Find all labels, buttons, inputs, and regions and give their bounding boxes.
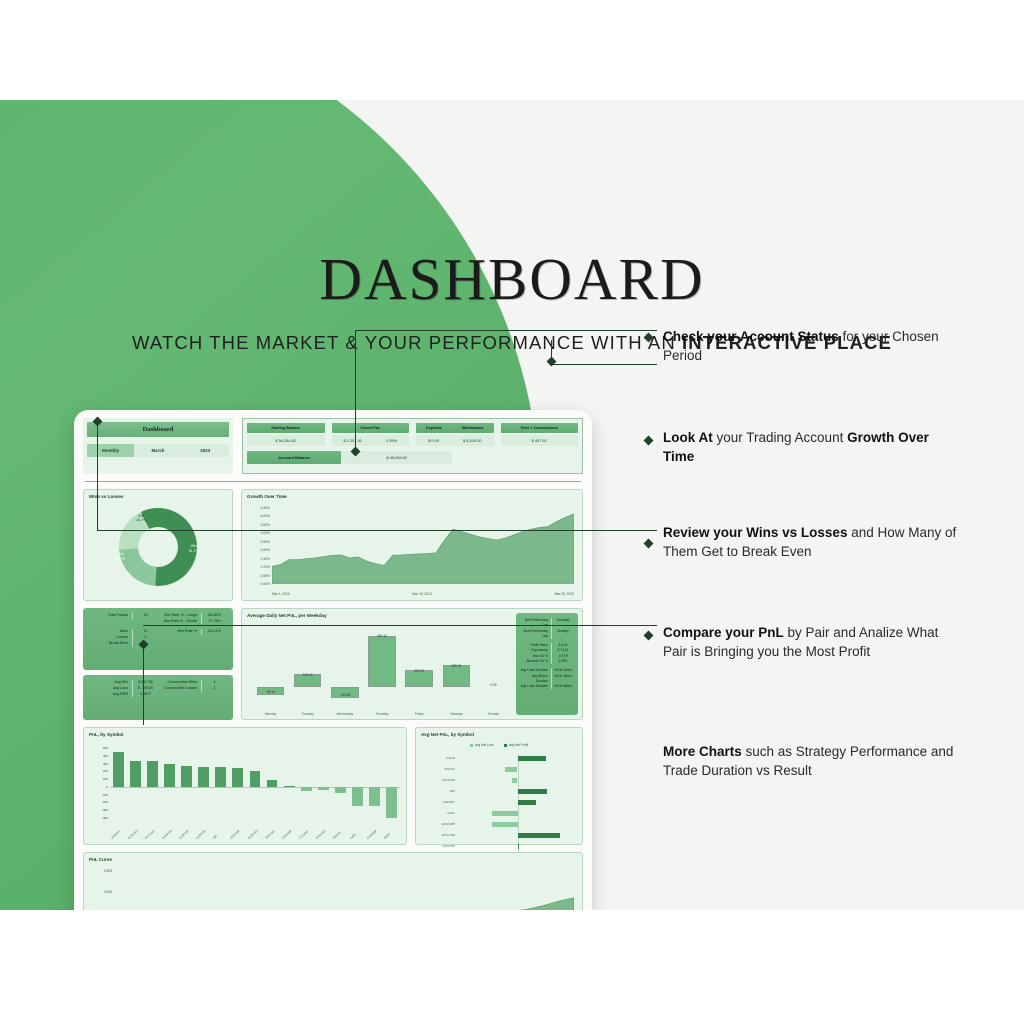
- legend-swatch-icon: [504, 744, 507, 747]
- pnl-by-symbol-panel: PnL, by Symbol 5004003002001000-100-200-…: [83, 727, 407, 845]
- legend-item-profit: Avg Net Profit: [504, 743, 529, 747]
- annotation-2: Look At your Trading Account Growth Over…: [663, 429, 963, 467]
- annotation-3: Review your Wins vs Losses and How Many …: [663, 524, 963, 562]
- bar: [113, 752, 124, 787]
- month-select[interactable]: March: [134, 444, 181, 457]
- annotation-bullet-2: [644, 436, 654, 446]
- wins-vs-losses-panel: Wins vs Losses Win 61.1% Loss 22.2%: [83, 489, 233, 601]
- pnl-curve-title: PnL Curve: [84, 853, 582, 862]
- bar-column: [212, 748, 229, 818]
- axis-gridline: [518, 765, 519, 776]
- account-status-card: Starting Balance $ 54,264.62 Closed PnL …: [242, 418, 583, 474]
- kpi-value: $ 54,264.62: [275, 438, 296, 443]
- bar-value-label: 167.43: [289, 673, 326, 677]
- bar-track: [459, 754, 576, 765]
- bar: [301, 787, 312, 791]
- pnl-curve-series: [114, 871, 574, 910]
- kpi-row: Starting Balance $ 54,264.62 Closed PnL …: [247, 423, 578, 446]
- list-item: FRAXX: [421, 765, 576, 776]
- kpi-label: Closed PnL: [360, 426, 380, 430]
- charts-row-3: PnL, by Symbol 5004003002001000-100-200-…: [83, 727, 583, 845]
- table-row: Avg Winner Duration 0d 0h 25min: [520, 674, 574, 685]
- bar-column: 219.75: [401, 631, 438, 703]
- symbol-label: EURGBP: [421, 822, 455, 826]
- symbol-label: BTCUSD: [421, 833, 455, 837]
- symbol-y-tick: 0: [106, 785, 108, 789]
- bar: [232, 768, 243, 787]
- charts-row-1: Wins vs Losses Win 61.1% Loss 22.2%: [83, 489, 583, 601]
- bar: [386, 787, 397, 818]
- annotation-bullet-3: [644, 539, 654, 549]
- symbol-tick: NFI: [212, 826, 227, 840]
- symbol-tick: AUDNZD: [195, 826, 210, 840]
- bar: [443, 665, 470, 688]
- growth-y-tick: 2.50%: [261, 540, 270, 544]
- dashboard-mockup-window[interactable]: Dashboard Monthly March 2023 Starting Ba…: [74, 410, 592, 910]
- kpi-closed-pnl: Closed PnL $ 1,257.41 2.39%: [332, 423, 410, 446]
- account-balance-label: Account Balance: [247, 451, 341, 464]
- bar: [181, 766, 192, 787]
- legend-item-loss: Avg Net Loss: [470, 743, 494, 747]
- performance-summary-box: Best Performing Day Thursday Worst Perfo…: [516, 613, 578, 715]
- bar-column: [281, 748, 298, 818]
- bar-value-label: 219.75: [401, 669, 438, 673]
- symbol-y-tick: 100: [103, 777, 108, 781]
- subtitle-plain: WATCH THE MARKET & YOUR PERFORMANCE WITH…: [132, 332, 682, 353]
- bar-track: [459, 809, 576, 820]
- pnl-symbol-x-axis: USDJPYEURUSDBTCUSDEURAUDEURCHFAUDNZDNFIU…: [110, 837, 400, 841]
- donut-label-win: Win 61.1%: [189, 544, 199, 554]
- bar: [318, 787, 329, 791]
- symbol-tick: USDCHF: [229, 826, 244, 840]
- bar-track: [459, 831, 576, 842]
- connector-line-3: [97, 422, 98, 530]
- weekday-tick: Friday: [401, 712, 438, 716]
- growth-y-tick: 4.00%: [261, 514, 270, 518]
- annotation-5: More Charts such as Strategy Performance…: [663, 743, 963, 781]
- symbol-tick: BTCUSD: [144, 826, 159, 840]
- bar-column: [383, 748, 400, 818]
- symbol-label: USNO: [421, 756, 455, 760]
- kpi-label-2: Withdrawals: [462, 426, 484, 430]
- bar-column: -99.12: [252, 631, 289, 703]
- pnl-symbol-bars: [110, 748, 400, 818]
- symbol-y-tick: -300: [102, 808, 108, 812]
- bar-profit: [518, 844, 519, 849]
- growth-y-tick: 3.50%: [261, 523, 270, 527]
- symbol-y-tick: 300: [103, 762, 108, 766]
- bar-loss: [492, 811, 518, 816]
- bar-column: -134.00: [326, 631, 363, 703]
- bar-value-label: 289.00: [438, 664, 475, 668]
- symbol-y-tick: 400: [103, 754, 108, 758]
- table-row: Avg Loser Duration 0d 0h 56min: [520, 684, 574, 689]
- kpi-deposits-withdrawals: Deposits Withdrawals $ 0.00 $ 6,200.00: [416, 423, 494, 446]
- symbol-y-tick: -400: [102, 816, 108, 820]
- weekday-tick: Thursday: [363, 712, 400, 716]
- pnl-symbol-y-axis: 5004003002001000-100-200-300-400: [86, 748, 108, 818]
- symbol-tick: ETHUSD: [315, 826, 330, 840]
- growth-y-tick: 1.00%: [261, 565, 270, 569]
- donut-label-breakeven: B/E 16.7%: [136, 514, 146, 524]
- kpi-value: $ 0.00: [428, 438, 439, 443]
- table-row: Break Even 3: [89, 641, 227, 647]
- connector-line-4b: [143, 625, 657, 626]
- symbol-label: AUDJPY: [421, 800, 455, 804]
- pnl-curve-plot-area: [114, 871, 574, 910]
- bar-track: [459, 798, 576, 809]
- weekday-tick: Saturday: [438, 712, 475, 716]
- kpi-fees-commissions: Fees + Commissions $ 457.51: [501, 423, 579, 446]
- bar-track: [459, 820, 576, 831]
- bar: [147, 761, 158, 787]
- symbol-tick: XAUUSD: [264, 826, 279, 840]
- bar-value-label: -134.00: [326, 693, 363, 697]
- bar-profit: [518, 833, 560, 838]
- page-title: DASHBOARD: [0, 245, 1024, 314]
- weekday-bars: -99.12167.43-134.00661.41219.75289.000.0…: [252, 631, 512, 703]
- table-row: Absolute DD % 0.29%: [520, 659, 574, 664]
- avg-net-pnl-title: Avg Net PnL, by Symbol: [416, 728, 582, 737]
- bar-column: [315, 748, 332, 818]
- bar: [284, 786, 295, 787]
- bar: [368, 636, 395, 688]
- bar-column: [144, 748, 161, 818]
- legend-swatch-icon: [470, 744, 473, 747]
- connector-line-2: [355, 330, 657, 331]
- bar-column: 289.00: [438, 631, 475, 703]
- bar-column: [246, 748, 263, 818]
- annotation-1: Check your Account Status for your Chose…: [663, 328, 963, 366]
- list-item: AAPL: [421, 809, 576, 820]
- growth-y-tick: 3.00%: [261, 531, 270, 535]
- bar-column: [110, 748, 127, 818]
- top-row: Dashboard Monthly March 2023 Starting Ba…: [83, 418, 583, 474]
- kpi-value: $ 1,257.41: [344, 438, 362, 443]
- symbol-tick: USDJPY: [110, 826, 125, 840]
- bar-loss: [505, 767, 517, 772]
- weekday-x-axis: MondayTuesdayWednesdayThursdayFridaySatu…: [252, 712, 512, 716]
- bar-track: [459, 765, 576, 776]
- avg-net-pnl-rows: USNOFRAXXETHUSDNFIAUDJPYAAPLEURGBPBTCUSD…: [421, 754, 576, 840]
- trade-counts-box: Total Trades 18 Win Rate % - Longs 66.66…: [83, 608, 233, 670]
- list-item: ETHUSD: [421, 776, 576, 787]
- symbol-tick: EURCHF: [178, 826, 193, 840]
- pnl-curve-y-axis: 2,5002,0001,5001,000: [86, 871, 112, 910]
- year-select[interactable]: 2023: [182, 444, 229, 457]
- growth-plot-area: 0.00%0.50%1.00%1.50%2.00%2.50%3.00%3.50%…: [272, 508, 574, 584]
- avg-net-pnl-panel: Avg Net PnL, by Symbol Avg Net Loss Avg …: [415, 727, 583, 845]
- bar-column: [264, 748, 281, 818]
- symbol-tick: CADCHF: [281, 826, 296, 840]
- growth-y-axis: 0.00%0.50%1.00%1.50%2.00%2.50%3.00%3.50%…: [244, 508, 270, 584]
- list-item: EURGBP: [421, 820, 576, 831]
- bar-column: [229, 748, 246, 818]
- bar: [164, 764, 175, 787]
- bar: [215, 767, 226, 786]
- bar: [352, 787, 363, 806]
- growth-x-tick: Mar 29, 2023: [555, 592, 574, 596]
- axis-gridline: [518, 776, 519, 787]
- symbol-tick: AAPL: [349, 826, 364, 840]
- curve-y-tick: 2,500: [104, 869, 112, 873]
- kpi-starting-balance: Starting Balance $ 54,264.62: [247, 423, 325, 446]
- axis-gridline: [518, 809, 519, 820]
- kpi-value-pct: 2.39%: [386, 438, 397, 443]
- bar-value-label: 0.00: [475, 683, 512, 687]
- symbol-y-tick: -100: [102, 793, 108, 797]
- bar-column: [195, 748, 212, 818]
- bar-loss: [492, 822, 518, 827]
- bar: [130, 761, 141, 787]
- growth-chart-title: Growth Over Time: [242, 490, 582, 499]
- avg-stats-box: Avg Win $ 217.55 Consecutive Wins 4 Avg …: [83, 675, 233, 720]
- symbol-tick: EURUSD: [127, 826, 142, 840]
- table-row: Best Performing Day Thursday: [520, 618, 574, 629]
- bar-column: [178, 748, 195, 818]
- bar-column: [161, 748, 178, 818]
- connector-line-2b: [355, 330, 356, 452]
- growth-x-tick: Mar 1, 2023: [272, 592, 290, 596]
- symbol-tick: FRAXX: [332, 826, 347, 840]
- bar: [250, 771, 261, 787]
- slide-root: DASHBOARD WATCH THE MARKET & YOUR PERFOR…: [0, 0, 1024, 1024]
- symbol-label: CADCHF: [421, 844, 455, 848]
- bar-column: 0.00: [475, 631, 512, 703]
- bar-track: [459, 787, 576, 798]
- annotation-4: Compare your PnL by Pair and Analize Wha…: [663, 624, 963, 662]
- bar-column: [349, 748, 366, 818]
- donut-label-loss: Loss 22.2%: [115, 552, 125, 562]
- connector-line-4: [143, 645, 144, 725]
- bar-value-label: 661.41: [363, 634, 400, 638]
- growth-area-series: [272, 508, 574, 584]
- table-row: Avg RRR 1.46 R: [89, 692, 227, 698]
- symbol-label: FRAXX: [421, 767, 455, 771]
- growth-y-tick: 0.50%: [261, 574, 270, 578]
- list-item: USNO: [421, 754, 576, 765]
- weekday-tick: Tuesday: [289, 712, 326, 716]
- bar: [335, 787, 346, 794]
- frequency-select[interactable]: Monthly: [87, 444, 134, 457]
- bar-column: [332, 748, 349, 818]
- bar-value-label: -99.12: [252, 690, 289, 694]
- table-row: Worst Performing Day Monday: [520, 629, 574, 640]
- connector-line-3b: [97, 530, 657, 531]
- growth-y-tick: 0.00%: [261, 582, 270, 586]
- list-item: BTCUSD: [421, 831, 576, 842]
- header-divider: [85, 481, 581, 482]
- list-item: NFI: [421, 787, 576, 798]
- bar-column: [127, 748, 144, 818]
- weekday-tick: Sunday: [475, 712, 512, 716]
- symbol-tick: MSFT: [383, 826, 398, 840]
- wins-vs-losses-donut: Win 61.1% Loss 22.2% B/E 16.7%: [119, 508, 197, 586]
- symbol-tick: EURGBP: [366, 826, 381, 840]
- kpi-value: $ 457.51: [532, 438, 547, 443]
- growth-x-axis: Mar 1, 2023 Mar 15, 2023 Mar 29, 2023: [272, 592, 574, 596]
- growth-y-tick: 4.50%: [261, 506, 270, 510]
- kpi-label: Starting Balance: [271, 426, 300, 430]
- weekday-tick: Wednesday: [326, 712, 363, 716]
- donut-hole: [138, 527, 178, 567]
- bar-loss: [512, 778, 518, 783]
- kpi-label: Fees + Commissions: [521, 426, 558, 430]
- bar: [198, 767, 209, 787]
- list-item: AUDJPY: [421, 798, 576, 809]
- bar: [267, 780, 278, 787]
- bar-track: [459, 776, 576, 787]
- bar-column: [298, 748, 315, 818]
- bar-column: 661.41: [363, 631, 400, 703]
- bar-column: [366, 748, 383, 818]
- bar-profit: [518, 789, 547, 794]
- symbol-label: ETHUSD: [421, 778, 455, 782]
- symbol-label: NFI: [421, 789, 455, 793]
- kpi-value-2: $ 6,200.00: [463, 438, 481, 443]
- symbol-y-tick: 200: [103, 769, 108, 773]
- symbol-tick: AUDCAD: [247, 826, 262, 840]
- symbol-tick: EURAUD: [161, 826, 176, 840]
- annotation-bullet-4: [644, 631, 654, 641]
- symbol-y-tick: 500: [103, 746, 108, 750]
- bar: [369, 787, 380, 806]
- bar-column: 167.43: [289, 631, 326, 703]
- curve-y-tick: 2,000: [104, 890, 112, 894]
- period-selector-card[interactable]: Dashboard Monthly March 2023: [83, 418, 233, 474]
- slide-canvas: DASHBOARD WATCH THE MARKET & YOUR PERFOR…: [0, 100, 1024, 910]
- weekday-tick: Monday: [252, 712, 289, 716]
- bar-profit: [518, 756, 547, 761]
- symbol-label: AAPL: [421, 811, 455, 815]
- account-balance-row: Account Balance $ 48,064.62: [247, 451, 452, 464]
- pnl-by-symbol-title: PnL, by Symbol: [84, 728, 406, 737]
- growth-x-tick: Mar 15, 2023: [412, 592, 431, 596]
- avg-net-pnl-legend: Avg Net Loss Avg Net Profit: [416, 743, 582, 747]
- axis-gridline: [518, 820, 519, 831]
- symbol-y-tick: -200: [102, 800, 108, 804]
- growth-y-tick: 1.50%: [261, 557, 270, 561]
- pnl-curve-panel: PnL Curve 2,5002,0001,5001,000: [83, 852, 583, 910]
- wins-vs-losses-title: Wins vs Losses: [84, 490, 232, 499]
- period-controls[interactable]: Monthly March 2023: [87, 444, 229, 457]
- symbol-tick: LTCUSD: [298, 826, 313, 840]
- dashboard-title-banner: Dashboard: [87, 422, 229, 437]
- kpi-label: Deposits: [426, 426, 442, 430]
- growth-y-tick: 2.00%: [261, 548, 270, 552]
- bar-profit: [518, 800, 536, 805]
- connector-line-1: [551, 364, 657, 365]
- growth-over-time-panel: Growth Over Time 0.00%0.50%1.00%1.50%2.0…: [241, 489, 583, 601]
